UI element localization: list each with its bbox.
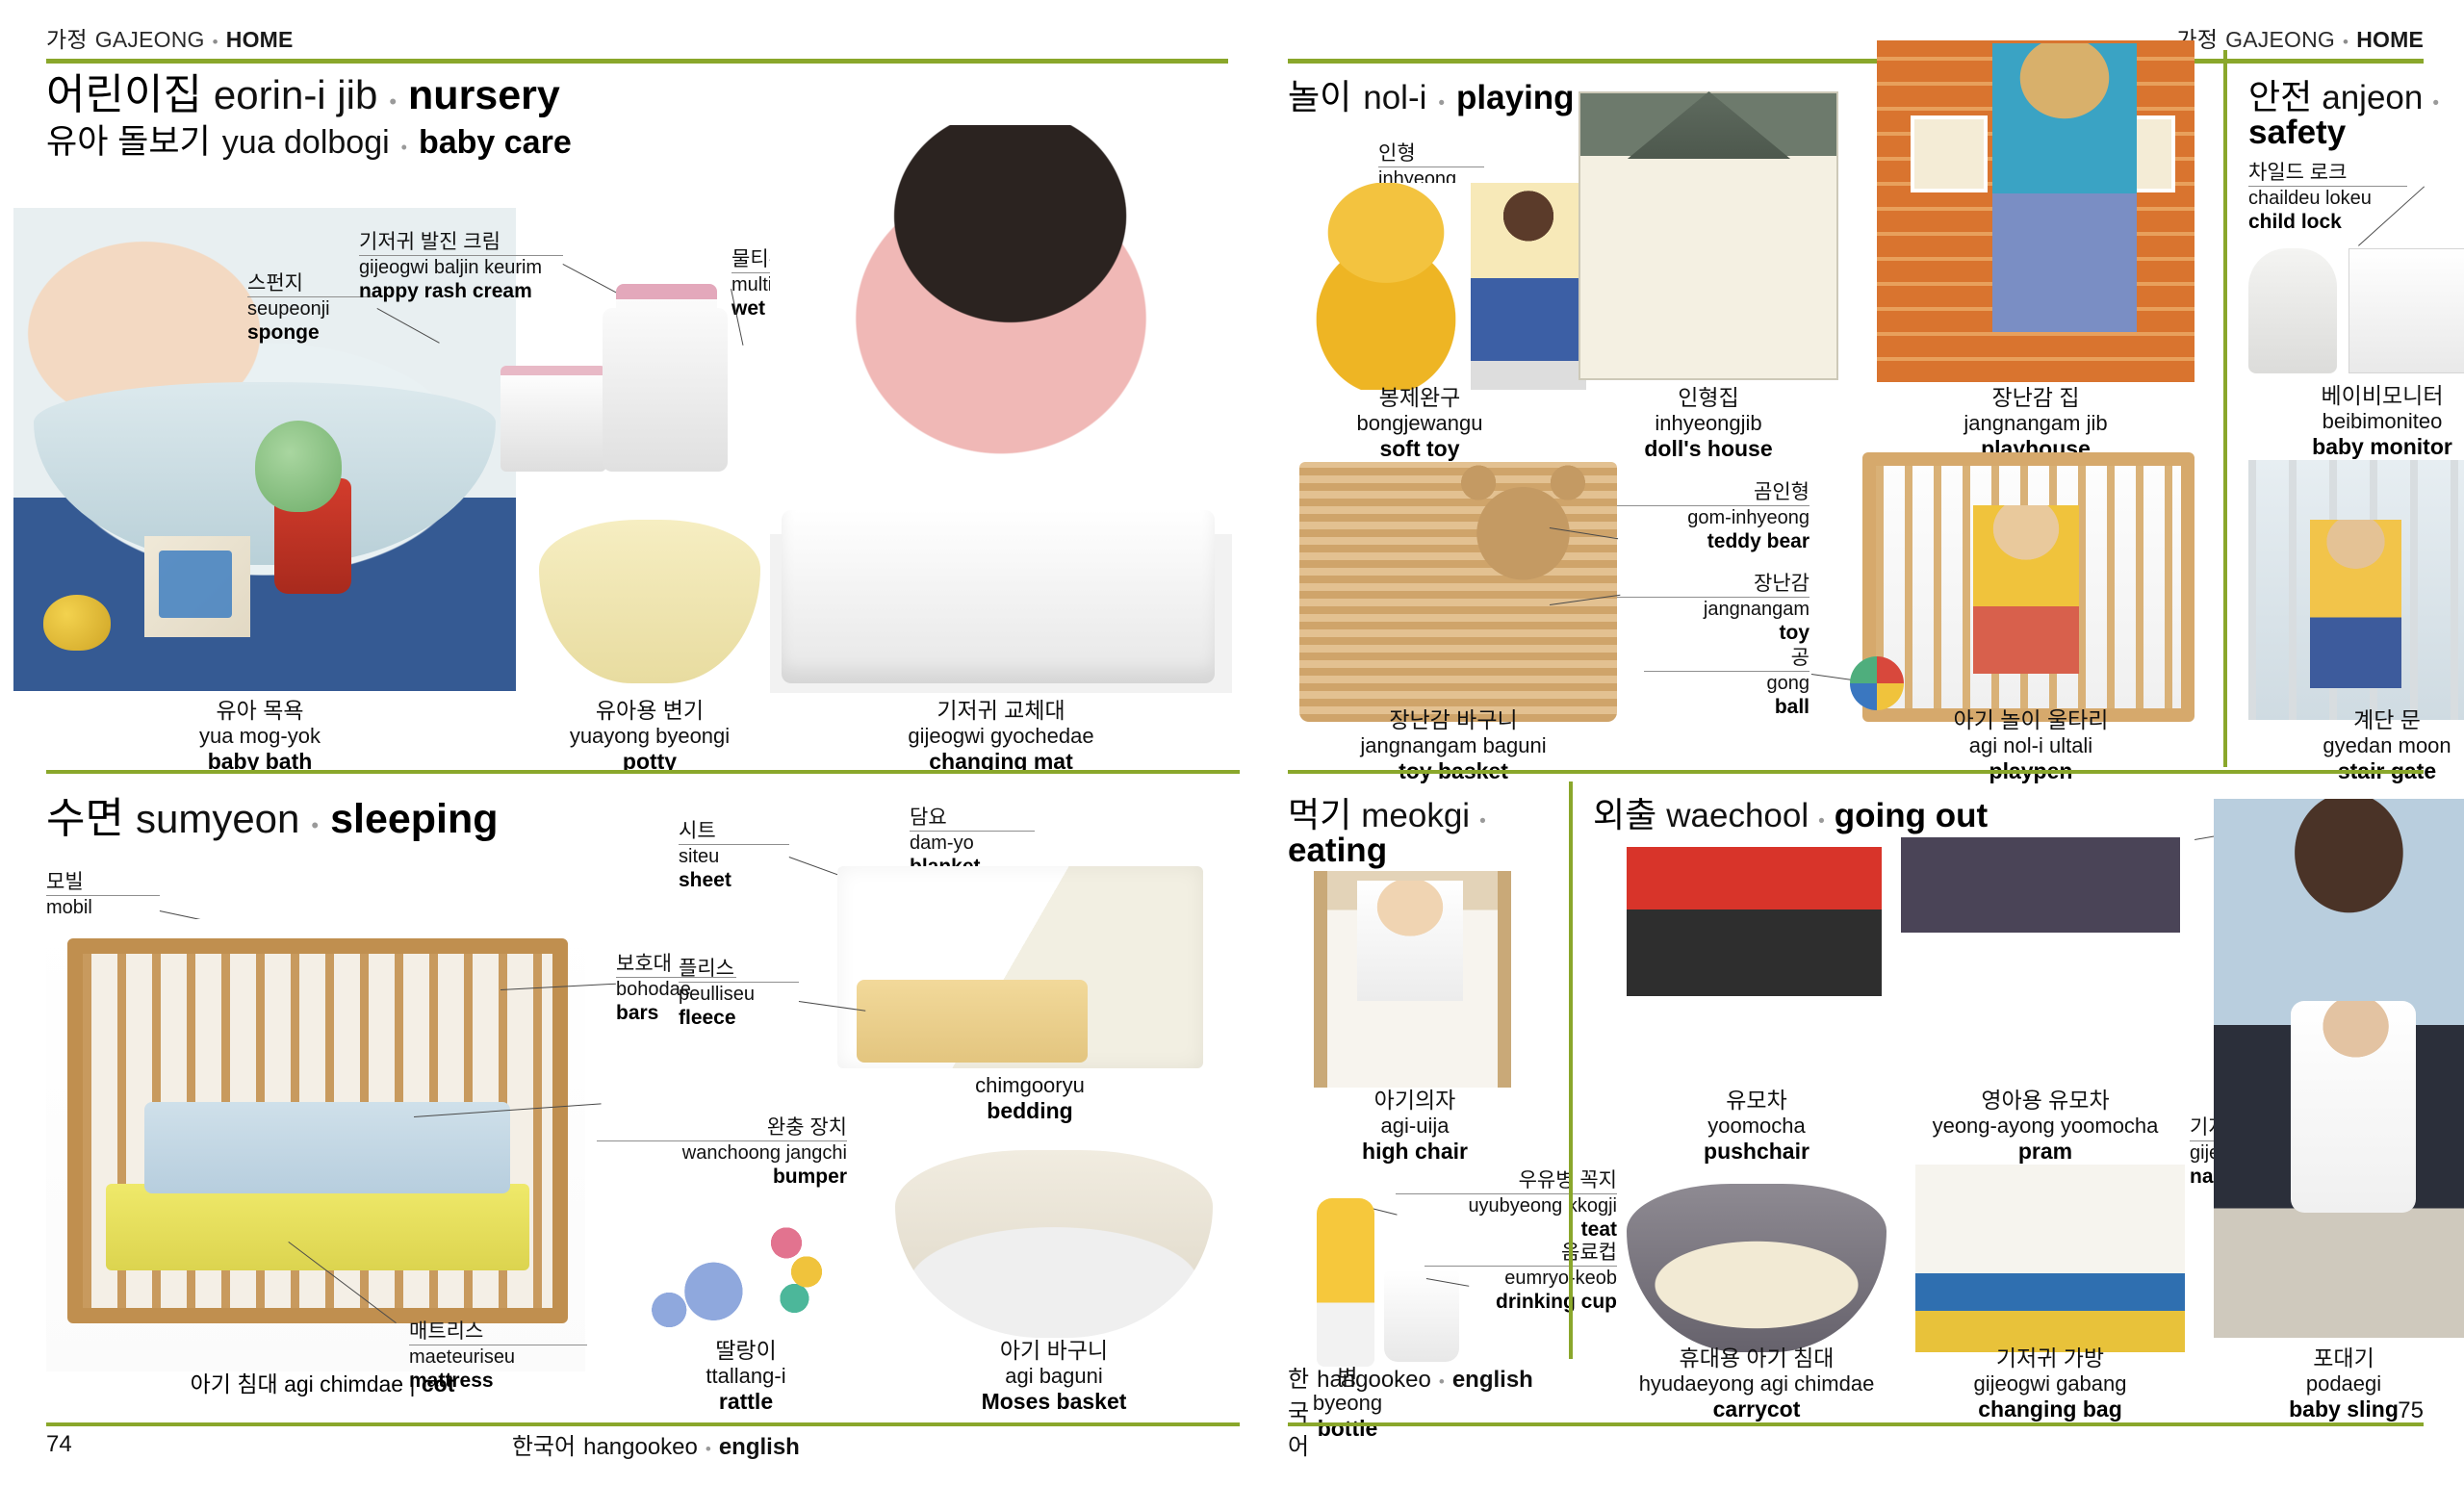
callout-sheet: 시트 siteu sheet bbox=[679, 820, 789, 892]
section-heading-playing: 놀이 nol-i • playing bbox=[1288, 79, 1575, 115]
running-head-right: 가정 GAJEONG • HOME bbox=[1288, 21, 2424, 54]
section-heading-eating: 먹기 meokgi • eating bbox=[1288, 797, 1495, 869]
running-head-korean: 가정 bbox=[46, 21, 88, 54]
photo-playhouse-child bbox=[1992, 43, 2137, 332]
drinking-cup-korean: 음료컵 bbox=[1424, 1242, 1617, 1267]
photo-changing-mat-pad bbox=[782, 510, 1215, 683]
soft-toy-korean: 봉제완구 bbox=[1295, 385, 1545, 411]
high-chair-korean: 아기의자 bbox=[1295, 1088, 1535, 1114]
footer-right: 한국어 hangookeo • english 75 bbox=[1288, 1360, 2424, 1461]
callout-bumper: 완충 장치 wanchoong jangchi bumper bbox=[597, 1116, 847, 1189]
photo-cot-bumper bbox=[144, 1102, 510, 1193]
bedding-romanization: chimgooryu bbox=[905, 1073, 1155, 1098]
rattle-romanization: ttallang-i bbox=[635, 1364, 857, 1389]
caption-pushchair: 유모차 yoomocha pushchair bbox=[1622, 1088, 1891, 1165]
photo-playpen-ball bbox=[1850, 656, 1904, 710]
photo-potty bbox=[539, 520, 760, 683]
baby-monitor-english: baby monitor bbox=[2243, 434, 2464, 460]
bullet-separator-icon: • bbox=[401, 139, 407, 157]
playing-korean: 놀이 bbox=[1288, 79, 1351, 115]
column-divider-going-out bbox=[1569, 781, 1573, 1359]
caption-dolls-house: 인형집 inhyeongjib doll's house bbox=[1578, 385, 1838, 462]
footer-korean: 한국어 bbox=[1288, 1360, 1309, 1461]
going-out-romanization: waechool bbox=[1666, 799, 1809, 833]
photo-moses-basket bbox=[895, 1150, 1213, 1338]
caption-playhouse: 장난감 집 jangnangam jib playhouse bbox=[1886, 385, 2185, 462]
cot-line: 아기 침대 agi chimdae | cot bbox=[191, 1371, 455, 1396]
eating-romanization: meokgi bbox=[1361, 799, 1470, 833]
photo-cot-mattress bbox=[106, 1184, 529, 1270]
caption-changing-mat: 기저귀 교체대 gijeogwi gyochedae changing mat bbox=[813, 698, 1189, 775]
fleece-romanization: peulliseu bbox=[679, 983, 799, 1006]
ball-english: ball bbox=[1644, 696, 1809, 719]
callout-teddy-bear: 곰인형 gom-inhyeong teddy bear bbox=[1617, 481, 1809, 553]
footer-romanization: hangookeo bbox=[1317, 1367, 1431, 1394]
stair-gate-romanization: gyedan moon bbox=[2243, 733, 2464, 758]
photo-pram bbox=[1901, 837, 2180, 1088]
caption-cot: 아기 침대 agi chimdae | cot bbox=[115, 1371, 529, 1397]
dictionary-spread: 가정 GAJEONG • HOME 어린이집 eorin-i jib • nur… bbox=[0, 0, 2464, 1486]
eating-korean: 먹기 bbox=[1288, 797, 1351, 833]
child-lock-romanization: chaildeu lokeu bbox=[2248, 187, 2407, 210]
footer-romanization: hangookeo bbox=[583, 1434, 698, 1461]
baby-bath-romanization: yua mog-yok bbox=[106, 724, 414, 749]
footer-english: english bbox=[1452, 1367, 1533, 1394]
nursery-english: nursery bbox=[408, 74, 560, 117]
dolls-house-korean: 인형집 bbox=[1578, 385, 1838, 411]
potty-korean: 유아용 변기 bbox=[505, 698, 794, 724]
blanket-romanization: dam-yo bbox=[910, 832, 1035, 855]
soft-toy-romanization: bongjewangu bbox=[1295, 411, 1545, 436]
high-chair-romanization: agi-uija bbox=[1295, 1114, 1535, 1139]
teat-korean: 우유병 꼭지 bbox=[1396, 1169, 1617, 1194]
toy-korean: 장난감 bbox=[1617, 573, 1809, 598]
running-head-left: 가정 GAJEONG • HOME bbox=[46, 21, 1228, 54]
bullet-separator-icon: • bbox=[2432, 94, 2439, 114]
bullet-separator-icon: • bbox=[1818, 812, 1825, 832]
going-out-english: going out bbox=[1835, 799, 1988, 833]
bullet-separator-icon: • bbox=[1439, 1372, 1445, 1392]
column-divider-safety bbox=[2223, 50, 2227, 767]
section-heading-going-out: 외출 waechool • going out bbox=[1593, 797, 1997, 833]
bullet-separator-icon: • bbox=[1438, 94, 1445, 114]
teddy-bear-romanization: gom-inhyeong bbox=[1617, 506, 1809, 529]
rattle-english: rattle bbox=[635, 1389, 857, 1415]
playhouse-romanization: jangnangam jib bbox=[1886, 411, 2185, 436]
photo-playhouse-window bbox=[1911, 115, 1988, 192]
running-head-romanization: GAJEONG bbox=[2225, 27, 2335, 53]
bullet-separator-icon: • bbox=[2343, 33, 2348, 52]
teddy-bear-english: teddy bear bbox=[1617, 530, 1809, 553]
mattress-korean: 매트리스 bbox=[409, 1320, 587, 1345]
cot-korean: 아기 침대 bbox=[191, 1371, 278, 1396]
sponge-english: sponge bbox=[247, 321, 377, 345]
running-head-english: HOME bbox=[2356, 27, 2424, 53]
folio-left: 74 bbox=[46, 1431, 72, 1458]
sponge-korean: 스펀지 bbox=[247, 272, 377, 297]
bumper-english: bumper bbox=[597, 1166, 847, 1189]
pram-romanization: yeong-ayong yoomocha bbox=[1891, 1114, 2199, 1139]
header-rule bbox=[46, 59, 1228, 64]
section-heading-safety: 안전 anjeon • safety bbox=[2248, 79, 2451, 151]
running-head-romanization: GAJEONG bbox=[95, 27, 205, 53]
playhouse-korean: 장난감 집 bbox=[1886, 385, 2185, 411]
nappy-rash-cream-korean: 기저귀 발진 크림 bbox=[359, 231, 563, 256]
pushchair-korean: 유모차 bbox=[1622, 1088, 1891, 1114]
footer-label-left: 한국어 hangookeo • english bbox=[72, 1427, 1240, 1461]
caption-high-chair: 아기의자 agi-uija high chair bbox=[1295, 1088, 1535, 1165]
mattress-romanization: maeteuriseu bbox=[409, 1345, 587, 1369]
fleece-english: fleece bbox=[679, 1007, 799, 1030]
baby-monitor-romanization: beibimoniteo bbox=[2243, 409, 2464, 434]
section-divider-sleeping bbox=[46, 770, 1240, 774]
photo-carrycot bbox=[1627, 1184, 1886, 1352]
footer-label-right: 한국어 hangookeo • english bbox=[1288, 1360, 1533, 1461]
footer-left: 74 한국어 hangookeo • english bbox=[46, 1427, 1240, 1461]
safety-english: safety bbox=[2248, 114, 2346, 151]
photo-pushchair bbox=[1627, 847, 1882, 1088]
photo-wet-wipe-tub bbox=[603, 308, 728, 472]
photo-bottle bbox=[1317, 1198, 1374, 1367]
sheet-english: sheet bbox=[679, 869, 789, 892]
playpen-romanization: agi nol-i ultali bbox=[1862, 733, 2199, 758]
bedding-english: bedding bbox=[905, 1098, 1155, 1124]
pram-english: pram bbox=[1891, 1139, 2199, 1165]
pushchair-romanization: yoomocha bbox=[1622, 1114, 1891, 1139]
photo-doll bbox=[1471, 183, 1586, 390]
nappy-rash-cream-romanization: gijeogwi baljin keurim bbox=[359, 256, 563, 279]
cot-separator: | bbox=[409, 1371, 415, 1396]
ball-romanization: gong bbox=[1644, 672, 1809, 695]
photo-drinking-cup bbox=[1384, 1270, 1459, 1362]
moses-basket-romanization: agi baguni bbox=[895, 1364, 1213, 1389]
safety-romanization: anjeon bbox=[2322, 81, 2423, 115]
fleece-korean: 플리스 bbox=[679, 958, 799, 983]
caption-rattle: 딸랑이 ttallang-i rattle bbox=[635, 1338, 857, 1415]
baby-bath-korean: 유아 목욕 bbox=[106, 698, 414, 724]
photo-playpen-child bbox=[1973, 505, 2079, 674]
cot-english: cot bbox=[422, 1371, 455, 1396]
caption-baby-bath: 유아 목욕 yua mog-yok baby bath bbox=[106, 698, 414, 775]
photo-changing-bag bbox=[1915, 1165, 2185, 1352]
folio-right: 75 bbox=[2398, 1397, 2424, 1424]
sheet-romanization: siteu bbox=[679, 845, 789, 868]
teat-romanization: uyubyeong kkogji bbox=[1396, 1194, 1617, 1217]
callout-teat: 우유병 꼭지 uyubyeong kkogji teat bbox=[1396, 1169, 1617, 1242]
nappy-rash-cream-english: nappy rash cream bbox=[359, 280, 563, 303]
moses-basket-korean: 아기 바구니 bbox=[895, 1338, 1213, 1364]
sleeping-korean: 수면 bbox=[46, 797, 124, 841]
photo-bedding-fleece bbox=[857, 980, 1088, 1063]
running-head-english: HOME bbox=[226, 27, 294, 53]
baby-care-english: baby care bbox=[419, 126, 572, 160]
photo-nappy-rash-cream bbox=[500, 366, 606, 472]
sheet-korean: 시트 bbox=[679, 820, 789, 845]
bullet-separator-icon: • bbox=[389, 91, 397, 114]
ball-korean: 공 bbox=[1644, 647, 1809, 672]
soft-toy-english: soft toy bbox=[1295, 436, 1545, 462]
moses-basket-english: Moses basket bbox=[895, 1389, 1213, 1415]
section-heading-nursery: 어린이집 eorin-i jib • nursery bbox=[46, 73, 1228, 117]
photo-baby-sling-infant bbox=[2291, 1001, 2416, 1213]
bullet-separator-icon: • bbox=[213, 33, 218, 52]
footer-korean: 한국어 bbox=[512, 1427, 576, 1461]
callout-ball: 공 gong ball bbox=[1644, 647, 1809, 719]
section-divider-eating bbox=[1288, 770, 2424, 774]
caption-soft-toy: 봉제완구 bongjewangu soft toy bbox=[1295, 385, 1545, 462]
bumper-romanization: wanchoong jangchi bbox=[597, 1141, 847, 1165]
cot-romanization: agi chimdae bbox=[284, 1371, 403, 1396]
photo-rattle bbox=[645, 1217, 847, 1333]
baby-care-korean: 유아 돌보기 bbox=[46, 125, 211, 160]
nursery-romanization: eorin-i jib bbox=[214, 74, 377, 116]
going-out-korean: 외출 bbox=[1593, 797, 1656, 833]
high-chair-english: high chair bbox=[1295, 1139, 1535, 1165]
rattle-korean: 딸랑이 bbox=[635, 1338, 857, 1364]
changing-mat-korean: 기저귀 교체대 bbox=[813, 698, 1189, 724]
photo-soft-toy bbox=[1299, 183, 1473, 390]
toy-basket-romanization: jangnangam baguni bbox=[1280, 733, 1627, 758]
toy-basket-korean: 장난감 바구니 bbox=[1280, 707, 1627, 733]
left-page: 가정 GAJEONG • HOME 어린이집 eorin-i jib • nur… bbox=[0, 0, 1261, 1486]
right-page: 가정 GAJEONG • HOME 놀이 nol-i • playing 인형 … bbox=[1261, 0, 2464, 1486]
toy-english: toy bbox=[1617, 622, 1809, 645]
playing-english: playing bbox=[1456, 81, 1575, 115]
teat-english: teat bbox=[1396, 1218, 1617, 1242]
photo-toy-basket-teddy bbox=[1453, 462, 1593, 592]
potty-romanization: yuayong byeongi bbox=[505, 724, 794, 749]
sleeping-english: sleeping bbox=[330, 798, 498, 841]
baby-monitor-korean: 베이비모니터 bbox=[2243, 383, 2464, 409]
header-rule-right bbox=[1288, 59, 2424, 64]
playpen-korean: 아기 놀이 울타리 bbox=[1862, 707, 2199, 733]
baby-care-romanization: yua dolbogi bbox=[222, 126, 390, 160]
child-lock-korean: 차일드 로크 bbox=[2248, 162, 2407, 187]
teddy-bear-korean: 곰인형 bbox=[1617, 481, 1809, 506]
doll-korean: 인형 bbox=[1378, 142, 1484, 167]
section-heading-sleeping: 수면 sumyeon • sleeping bbox=[46, 797, 499, 841]
sponge-romanization: seupeonji bbox=[247, 297, 377, 320]
toy-romanization: jangnangam bbox=[1617, 598, 1809, 621]
sleeping-romanization: sumyeon bbox=[136, 798, 299, 840]
callout-nappy-rash-cream: 기저귀 발진 크림 gijeogwi baljin keurim nappy r… bbox=[359, 231, 563, 303]
bullet-separator-icon: • bbox=[706, 1440, 711, 1459]
bullet-separator-icon: • bbox=[1479, 812, 1486, 832]
blanket-korean: 담요 bbox=[910, 807, 1035, 832]
mobile-korean: 모빌 bbox=[46, 871, 160, 896]
mobile-romanization: mobil bbox=[46, 896, 160, 919]
footer-english: english bbox=[719, 1434, 800, 1461]
dolls-house-romanization: inhyeongjib bbox=[1578, 411, 1838, 436]
callout-toy: 장난감 jangnangam toy bbox=[1617, 573, 1809, 645]
nursery-korean: 어린이집 bbox=[46, 73, 202, 117]
bumper-korean: 완충 장치 bbox=[597, 1116, 847, 1141]
bullet-separator-icon: • bbox=[311, 815, 319, 837]
changing-mat-romanization: gijeogwi gyochedae bbox=[813, 724, 1189, 749]
pram-korean: 영아용 유모차 bbox=[1891, 1088, 2199, 1114]
photo-child-lock-cupboard bbox=[2348, 248, 2464, 373]
caption-bedding: chimgooryu bedding bbox=[905, 1073, 1155, 1124]
pushchair-english: pushchair bbox=[1622, 1139, 1891, 1165]
photo-stair-gate-child bbox=[2310, 520, 2401, 688]
playing-romanization: nol-i bbox=[1363, 81, 1426, 115]
safety-korean: 안전 bbox=[2248, 79, 2312, 115]
caption-potty: 유아용 변기 yuayong byeongi potty bbox=[505, 698, 794, 775]
dolls-house-english: doll's house bbox=[1578, 436, 1838, 462]
callout-fleece: 플리스 peulliseu fleece bbox=[679, 958, 799, 1030]
caption-pram: 영아용 유모차 yeong-ayong yoomocha pram bbox=[1891, 1088, 2199, 1165]
footer-rule-left bbox=[46, 1422, 1240, 1426]
callout-sponge: 스펀지 seupeonji sponge bbox=[247, 272, 377, 345]
stair-gate-korean: 계단 문 bbox=[2243, 707, 2464, 733]
photo-baby-monitor bbox=[2248, 248, 2337, 373]
caption-moses-basket: 아기 바구니 agi baguni Moses basket bbox=[895, 1338, 1213, 1415]
eating-english: eating bbox=[1288, 832, 1387, 869]
caption-baby-monitor: 베이비모니터 beibimoniteo baby monitor bbox=[2243, 383, 2464, 460]
photo-high-chair-baby bbox=[1357, 881, 1463, 1001]
